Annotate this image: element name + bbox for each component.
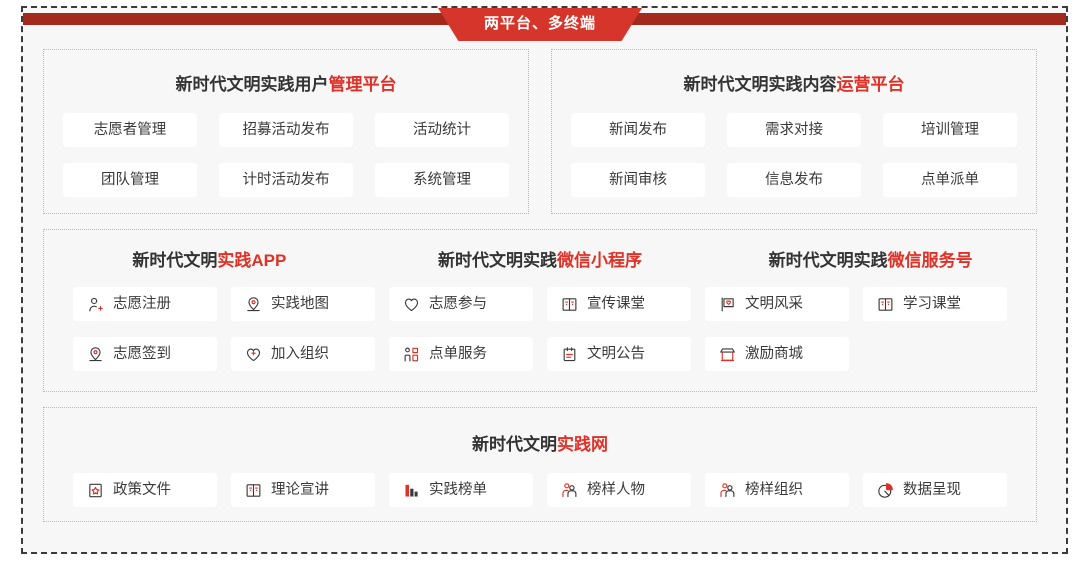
item-timed-activity-publish[interactable]: 计时活动发布: [219, 163, 353, 197]
item-label: 榜样人物: [587, 483, 645, 498]
item-label: 政策文件: [113, 483, 171, 498]
item-order-dispatch[interactable]: 点单派单: [883, 163, 1017, 197]
map-pin-icon: [245, 296, 262, 313]
infographic-page: 两平台、多终端 新时代文明实践用户管理平台 志愿者管理 招募活动发布 活动统计 …: [0, 0, 1080, 562]
pie-chart-icon: [877, 482, 894, 499]
panel-web-items: 政策文件 理论宣讲: [44, 473, 1036, 507]
panel-user-platform: 新时代文明实践用户管理平台 志愿者管理 招募活动发布 活动统计 团队管理 计时活…: [43, 49, 529, 214]
item-study-classroom[interactable]: 学习课堂: [863, 287, 1007, 321]
panel-content-platform-title-plain: 新时代文明实践内容: [684, 75, 837, 94]
client-title-plain: 新时代文明实践: [769, 251, 888, 270]
panel-user-platform-items: 志愿者管理 招募活动发布 活动统计 团队管理 计时活动发布 系统管理: [44, 113, 528, 197]
panel-web: 新时代文明实践网 政策文件: [43, 407, 1037, 522]
item-publicity-classroom[interactable]: 宣传课堂: [547, 287, 691, 321]
client-items-row-1: 志愿注册 实践地图 志愿参与: [44, 287, 1036, 371]
announcement-icon: [561, 346, 578, 363]
item-label: 志愿注册: [113, 297, 171, 312]
panel-content-platform-title-highlight: 运营平台: [837, 75, 905, 94]
flag-heart-icon: [719, 296, 736, 313]
client-title-highlight: 微信服务号: [888, 251, 973, 270]
item-label: 宣传课堂: [587, 297, 645, 312]
item-practice-ranking[interactable]: 实践榜单: [389, 473, 533, 507]
item-label: 点单服务: [429, 347, 487, 362]
panel-user-platform-title: 新时代文明实践用户管理平台: [44, 70, 528, 95]
item-data-presentation[interactable]: 数据呈现: [863, 473, 1007, 507]
item-label: 团队管理: [101, 173, 159, 188]
panel-web-title: 新时代文明实践网: [44, 430, 1036, 455]
item-role-model-organization[interactable]: 榜样组织: [705, 473, 849, 507]
open-book-icon: [245, 482, 262, 499]
item-order-service[interactable]: 点单服务: [389, 337, 533, 371]
item-label: 文明风采: [745, 297, 803, 312]
item-news-review[interactable]: 新闻审核: [571, 163, 705, 197]
two-people-icon: [719, 482, 736, 499]
item-incentive-mall[interactable]: 激励商城: [705, 337, 849, 371]
item-label: 计时活动发布: [243, 173, 330, 188]
item-label: 点单派单: [921, 173, 979, 188]
client-title-app: 新时代文明实践APP: [44, 246, 375, 271]
panel-web-title-highlight: 实践网: [557, 435, 608, 454]
item-label: 学习课堂: [903, 297, 961, 312]
heart-icon: [403, 296, 420, 313]
item-label: 实践榜单: [429, 483, 487, 498]
item-label: 激励商城: [745, 347, 803, 362]
shop-icon: [719, 346, 736, 363]
item-info-publish[interactable]: 信息发布: [727, 163, 861, 197]
client-title-service-account: 新时代文明实践微信服务号: [705, 246, 1036, 271]
item-demand-matching[interactable]: 需求对接: [727, 113, 861, 147]
item-volunteer-register[interactable]: 志愿注册: [73, 287, 217, 321]
bar-chart-icon: [403, 482, 420, 499]
person-add-icon: [87, 296, 104, 313]
item-join-organization[interactable]: 加入组织: [231, 337, 375, 371]
item-civilization-announcement[interactable]: 文明公告: [547, 337, 691, 371]
client-title-highlight: 微信小程序: [557, 251, 642, 270]
open-book-icon: [877, 296, 894, 313]
client-title-plain: 新时代文明实践: [438, 251, 557, 270]
two-people-icon: [561, 482, 578, 499]
panel-user-platform-title-plain: 新时代文明实践用户: [176, 75, 329, 94]
item-label: 志愿者管理: [94, 123, 167, 138]
document-star-icon: [87, 482, 104, 499]
item-news-publish[interactable]: 新闻发布: [571, 113, 705, 147]
heart-plus-icon: [245, 346, 262, 363]
map-pin-check-icon: [87, 346, 104, 363]
item-theory-lecture[interactable]: 理论宣讲: [231, 473, 375, 507]
item-recruit-activity-publish[interactable]: 招募活动发布: [219, 113, 353, 147]
item-label: 系统管理: [413, 173, 471, 188]
item-volunteer-checkin[interactable]: 志愿签到: [73, 337, 217, 371]
panel-user-platform-title-highlight: 管理平台: [329, 75, 397, 94]
banner-ribbon: 两平台、多终端: [438, 8, 642, 41]
item-training-management[interactable]: 培训管理: [883, 113, 1017, 147]
item-label: 新闻发布: [609, 123, 667, 138]
panel-clients: 新时代文明实践APP 新时代文明实践微信小程序 新时代文明实践微信服务号 志愿注…: [43, 229, 1037, 392]
item-label: 志愿签到: [113, 347, 171, 362]
item-label: 活动统计: [413, 123, 471, 138]
client-title-highlight: 实践APP: [217, 251, 286, 270]
item-team-management[interactable]: 团队管理: [63, 163, 197, 197]
item-label: 数据呈现: [903, 483, 961, 498]
group-people-icon: [403, 346, 420, 363]
item-label: 加入组织: [271, 347, 329, 362]
item-label: 榜样组织: [745, 483, 803, 498]
banner-title: 两平台、多终端: [484, 16, 596, 33]
item-label: 理论宣讲: [271, 483, 329, 498]
item-activity-statistics[interactable]: 活动统计: [375, 113, 509, 147]
item-volunteer-management[interactable]: 志愿者管理: [63, 113, 197, 147]
panel-content-platform-title: 新时代文明实践内容运营平台: [552, 70, 1036, 95]
item-label: 文明公告: [587, 347, 645, 362]
item-policy-documents[interactable]: 政策文件: [73, 473, 217, 507]
item-label: 新闻审核: [609, 173, 667, 188]
item-label: 招募活动发布: [243, 123, 330, 138]
item-label: 实践地图: [271, 297, 329, 312]
item-practice-map[interactable]: 实践地图: [231, 287, 375, 321]
item-volunteer-participate[interactable]: 志愿参与: [389, 287, 533, 321]
item-label: 培训管理: [921, 123, 979, 138]
client-titles: 新时代文明实践APP 新时代文明实践微信小程序 新时代文明实践微信服务号: [44, 246, 1036, 271]
panel-web-title-plain: 新时代文明: [472, 435, 557, 454]
item-label: 志愿参与: [429, 297, 487, 312]
item-role-model-person[interactable]: 榜样人物: [547, 473, 691, 507]
item-label: 信息发布: [765, 173, 823, 188]
item-label: 需求对接: [765, 123, 823, 138]
open-book-icon: [561, 296, 578, 313]
panel-content-platform-items: 新闻发布 需求对接 培训管理 新闻审核 信息发布 点单派单: [552, 113, 1036, 197]
item-civilization-style[interactable]: 文明风采: [705, 287, 849, 321]
panel-content-platform: 新时代文明实践内容运营平台 新闻发布 需求对接 培训管理 新闻审核 信息发布 点…: [551, 49, 1037, 214]
client-title-miniprogram: 新时代文明实践微信小程序: [375, 246, 706, 271]
client-title-plain: 新时代文明: [132, 251, 217, 270]
item-system-management[interactable]: 系统管理: [375, 163, 509, 197]
